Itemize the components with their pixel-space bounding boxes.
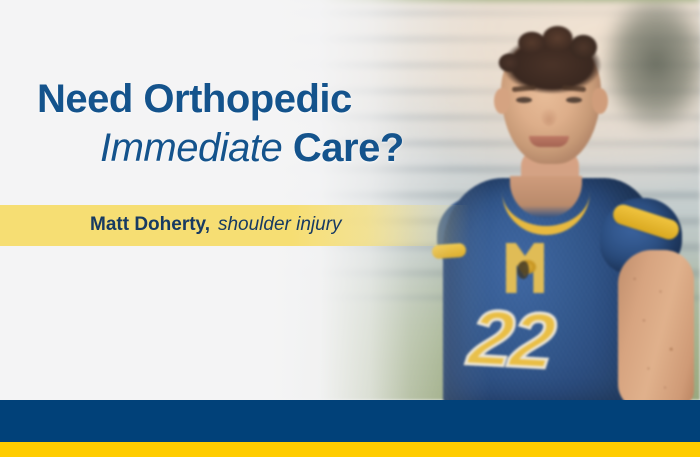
mascot-icon (512, 255, 538, 285)
nose (541, 104, 557, 126)
footer-bar-blue (0, 400, 700, 442)
headline-line-1: Need Orthopedic (37, 76, 404, 123)
patient-name: Matt Doherty, (90, 214, 210, 235)
eye-left (516, 97, 532, 103)
footer-bar-gold (0, 442, 700, 457)
headline-line-2: Immediate Care? (100, 125, 404, 172)
athlete-figure: 22 (0, 0, 700, 400)
headline-emphasis: Immediate (100, 126, 282, 170)
eye-right (566, 97, 582, 103)
orthopedic-immediate-care-banner: 22 Need Orthopedic Immediate Care? (0, 0, 700, 457)
arm-freckles (618, 250, 694, 410)
hair (496, 22, 608, 96)
jersey-number: 22 (465, 298, 557, 380)
right-arm (618, 250, 694, 410)
patient-injury: shoulder injury (218, 214, 342, 235)
page-title: Need Orthopedic Immediate Care? (37, 76, 404, 172)
mouth (529, 136, 569, 147)
patient-caption: Matt Doherty,shoulder injury (90, 214, 342, 236)
headline-strong: Care? (293, 126, 404, 170)
